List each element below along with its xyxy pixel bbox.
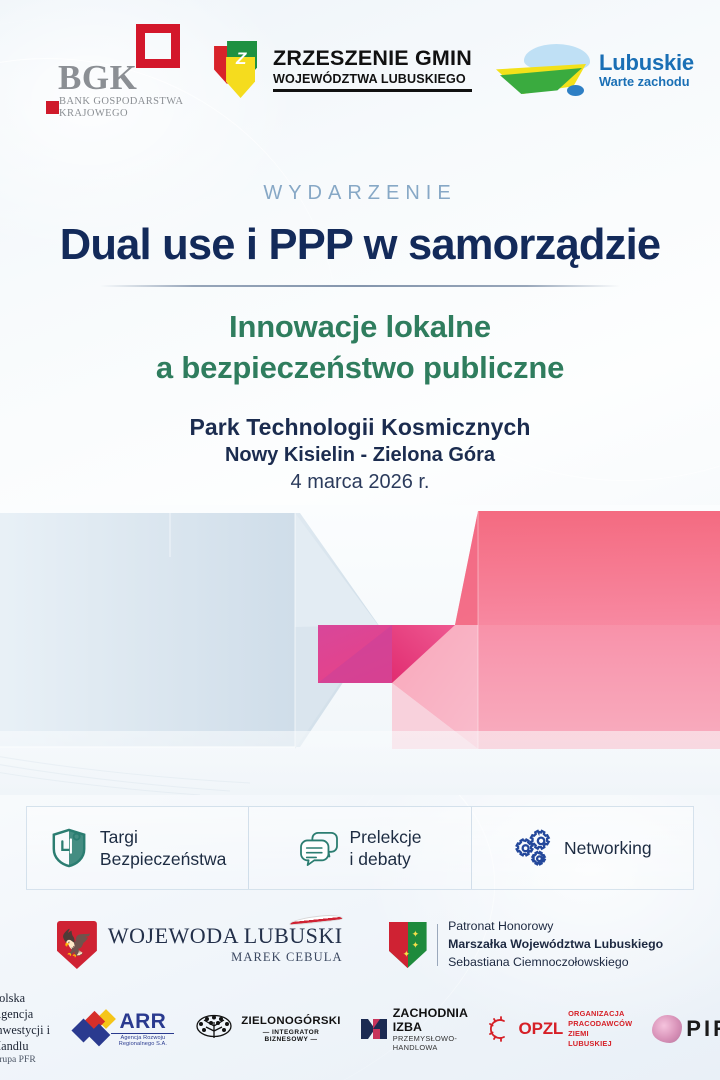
sponsor-zielonogorski: ZIELONOGÓRSKI — INTEGRATOR BIZNESOWY — xyxy=(194,1014,340,1044)
gears-icon xyxy=(513,828,553,868)
feature-item-networking[interactable]: Networking xyxy=(471,807,693,889)
shield-lock-icon xyxy=(49,828,89,868)
opzl-line2: PRACODAWCÓW xyxy=(568,1019,632,1029)
paih-text: Polska Agencja Inwestycji i Handlu Grupa… xyxy=(0,991,53,1066)
opzl-text: ORGANIZACJA PRACODAWCÓW ZIEMI LUBUSKIEJ xyxy=(568,1009,632,1049)
coat-star: ✦ xyxy=(412,929,420,940)
voivode-logo: 🦅 WOJEWODA LUBUSKI MAREK CEBULA xyxy=(57,921,343,969)
shield-letter: Z xyxy=(236,49,246,69)
event-kicker: WYDARZENIE xyxy=(30,182,690,205)
venue-name: Park Technologii Kosmicznych xyxy=(30,414,690,441)
bgk-square-icon xyxy=(136,24,180,68)
patrons-row: 🦅 WOJEWODA LUBUSKI MAREK CEBULA ✦ ✦ ✦ Pa… xyxy=(0,906,720,984)
honorary-line2: Marszałka Województwa Lubuskiego xyxy=(448,936,663,954)
feature-label-prelekcje: Prelekcje i debaty xyxy=(350,826,422,871)
bgk-small-square-icon xyxy=(46,101,59,114)
zielonogorski-tree-icon xyxy=(194,1014,234,1042)
voivode-title: WOJEWODA LUBUSKI xyxy=(108,925,343,947)
venue-city: Nowy Kisielin - Zielona Góra xyxy=(30,444,690,467)
coat-left-field xyxy=(389,922,408,968)
header-logo-bar: BGK BANK GOSPODARSTWA KRAJOWEGO Z ZRZESZ… xyxy=(0,0,720,140)
feature-label-networking: Networking xyxy=(564,837,652,859)
honorary-line3: Sebastiana Ciemnoczołowskiego xyxy=(448,954,663,972)
opzl-wordmark: OPZL xyxy=(519,1019,564,1039)
hero-graphic xyxy=(0,505,720,795)
sponsor-zachodnia-izba: ZACHODNIA IZBA PRZEMYSŁOWO-HANDLOWA xyxy=(361,1006,468,1053)
opzl-line1: ORGANIZACJA xyxy=(568,1009,632,1019)
triple-shield-icon: Z xyxy=(214,41,264,99)
zielonogorski-line2: — INTEGRATOR BIZNESOWY — xyxy=(241,1029,340,1043)
page-title: Dual use i PPP w samorządzie xyxy=(30,223,690,269)
zrzeszenie-gmin-logo: Z ZRZESZENIE GMIN WOJEWÓDZTWA LUBUSKIEGO xyxy=(214,41,472,99)
zrzeszenie-gmin-rule xyxy=(273,89,472,92)
zachodnia-izba-icon xyxy=(361,1017,387,1041)
feature-label-line1: Networking xyxy=(564,837,652,859)
feature-label-line2: i debaty xyxy=(350,848,422,870)
sponsor-paih: Polska Agencja Inwestycji i Handlu Grupa… xyxy=(0,991,53,1066)
voivode-text: WOJEWODA LUBUSKI MAREK CEBULA xyxy=(108,925,343,965)
lubuskie-logo: Lubuskie Warte zachodu xyxy=(496,42,694,98)
arr-underline xyxy=(111,1033,174,1034)
title-divider xyxy=(100,285,620,287)
bgk-wordmark: BGK xyxy=(58,60,137,95)
features-strip: Targi Bezpieczeństwa Prelekcje i deb xyxy=(26,806,694,890)
event-subtitle: Innowacje lokalne a bezpieczeństwo publi… xyxy=(30,307,690,389)
bgk-subtitle: BANK GOSPODARSTWA KRAJOWEGO xyxy=(59,96,183,121)
divider-bar xyxy=(437,924,439,966)
feature-item-targi[interactable]: Targi Bezpieczeństwa xyxy=(27,807,248,889)
title-block: WYDARZENIE Dual use i PPP w samorządzie … xyxy=(0,140,720,494)
lubuskie-line1: Lubuskie xyxy=(599,51,694,74)
paih-line3: Grupa PFR xyxy=(0,1054,53,1066)
feature-label-line1: Targi xyxy=(100,826,226,848)
paih-line2: Inwestycji i Handlu xyxy=(0,1023,53,1054)
feature-label-line1: Prelekcje xyxy=(350,826,422,848)
sponsor-pire: PIRE xyxy=(652,1015,720,1043)
lubuskie-text: Lubuskie Warte zachodu xyxy=(599,51,694,89)
arr-wordmark: ARR xyxy=(111,1011,174,1032)
zrzeszenie-gmin-line1: ZRZESZENIE GMIN xyxy=(273,48,472,70)
pire-wordmark: PIRE xyxy=(686,1016,720,1042)
zachodnia-izba-line1: ZACHODNIA IZBA xyxy=(393,1006,468,1035)
lubuskie-line2: Warte zachodu xyxy=(599,75,694,88)
sponsor-opzl: OPZL ORGANIZACJA PRACODAWCÓW ZIEMI LUBUS… xyxy=(488,1009,633,1049)
voivode-name: MAREK CEBULA xyxy=(108,950,343,965)
honorary-line1: Patronat Honorowy xyxy=(448,918,663,936)
bgk-subtitle-line2: KRAJOWEGO xyxy=(59,108,183,120)
honorary-patronage-text: Patronat Honorowy Marszałka Województwa … xyxy=(448,918,663,971)
paih-line1: Polska Agencja xyxy=(0,991,53,1022)
feature-label-line2: Bezpieczeństwa xyxy=(100,848,226,870)
lubuskie-swoosh-icon xyxy=(496,42,592,98)
lubuskie-coat-of-arms-icon: ✦ ✦ ✦ xyxy=(389,922,427,968)
zrzeszenie-gmin-text: ZRZESZENIE GMIN WOJEWÓDZTWA LUBUSKIEGO xyxy=(273,48,472,92)
lubuskie-blue-dot xyxy=(567,85,584,96)
pire-blob-icon xyxy=(652,1015,682,1043)
venue-block: Park Technologii Kosmicznych Nowy Kisiel… xyxy=(30,414,690,494)
coat-star: ✦ xyxy=(412,940,420,951)
opzl-sun-icon xyxy=(488,1016,514,1042)
bgk-subtitle-line1: BANK GOSPODARSTWA xyxy=(59,96,183,108)
feature-item-prelekcje[interactable]: Prelekcje i debaty xyxy=(248,807,470,889)
event-date: 4 marca 2026 r. xyxy=(30,471,690,494)
abstract-arrows-illustration xyxy=(0,505,720,795)
bgk-logo: BGK BANK GOSPODARSTWA KRAJOWEGO xyxy=(40,20,190,120)
event-subtitle-line2: a bezpieczeństwo publiczne xyxy=(30,348,690,389)
event-poster: BGK BANK GOSPODARSTWA KRAJOWEGO Z ZRZESZ… xyxy=(0,0,720,1080)
event-subtitle-line1: Innowacje lokalne xyxy=(30,307,690,348)
zrzeszenie-gmin-line2: WOJEWÓDZTWA LUBUSKIEGO xyxy=(273,73,472,86)
coat-star: ✦ xyxy=(403,949,411,960)
feature-label-targi: Targi Bezpieczeństwa xyxy=(100,826,226,871)
speech-bubbles-icon xyxy=(299,828,339,868)
sponsors-row: Polska Agencja Inwestycji i Handlu Grupa… xyxy=(0,992,720,1066)
arr-icon xyxy=(73,1014,105,1044)
zielonogorski-line1: ZIELONOGÓRSKI xyxy=(241,1015,340,1027)
opzl-line3: ZIEMI LUBUSKIEJ xyxy=(568,1029,632,1049)
arr-subtitle: Agencja Rozwoju Regionalnego S.A. xyxy=(111,1035,174,1047)
polish-eagle-icon: 🦅 xyxy=(57,921,97,969)
honorary-patronage: ✦ ✦ ✦ Patronat Honorowy Marszałka Wojewó… xyxy=(389,918,664,971)
zachodnia-izba-line2: PRZEMYSŁOWO-HANDLOWA xyxy=(393,1035,468,1052)
sponsor-arr: ARR Agencja Rozwoju Regionalnego S.A. xyxy=(73,1011,175,1047)
eagle-glyph: 🦅 xyxy=(61,930,93,956)
